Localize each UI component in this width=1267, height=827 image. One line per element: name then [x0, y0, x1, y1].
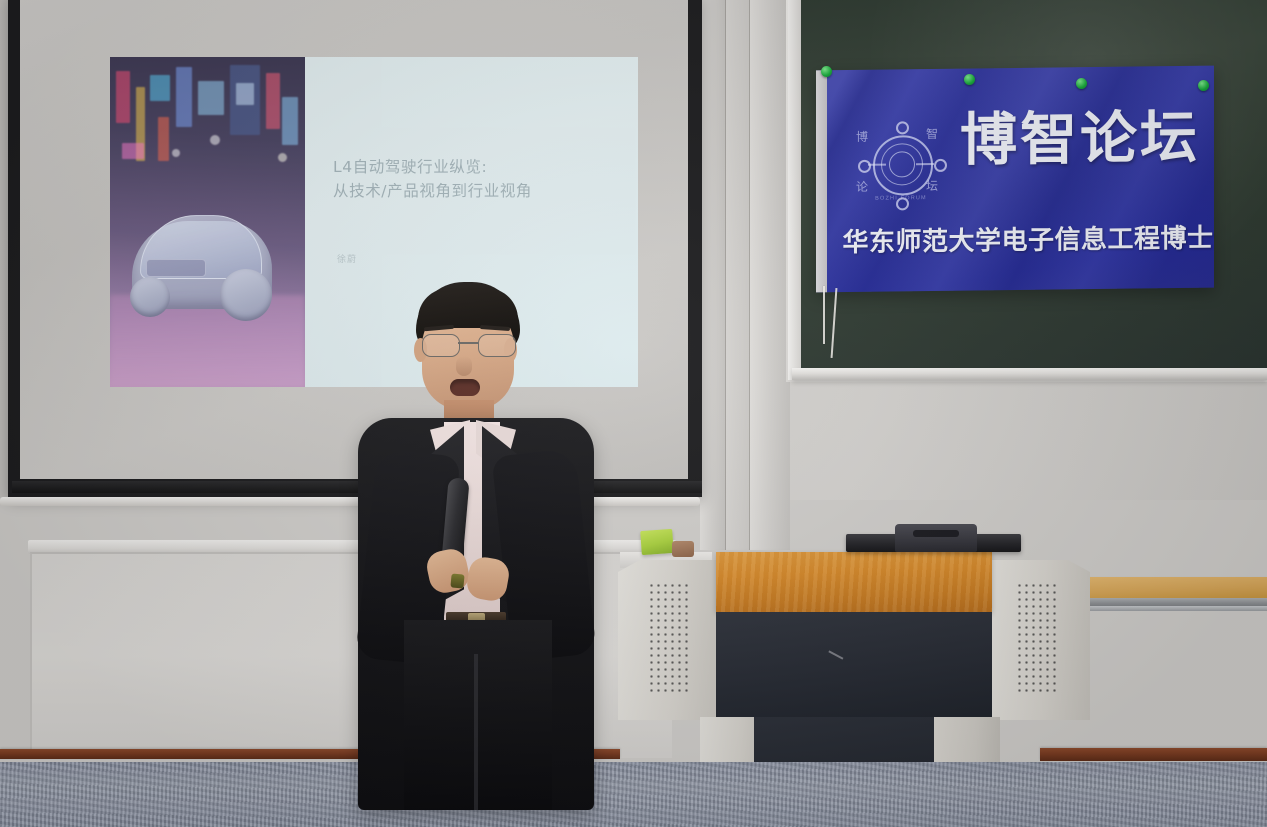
lecture-hall-photo: L4自动驾驶行业纵览: 从技术/产品视角到行业视角 徐蔚 博 智 论 坛 BOZ… — [0, 0, 1267, 827]
presenter-hair-front — [418, 288, 518, 328]
slide-pod-car — [128, 185, 284, 325]
logo-node-top — [896, 121, 909, 134]
presenter-leg-seam — [474, 654, 478, 810]
carpet-floor — [0, 762, 1267, 827]
slide-title: L4自动驾驶行业纵览: 从技术/产品视角到行业视角 — [333, 155, 633, 203]
side-desk-rail-lower — [1085, 606, 1267, 611]
slide-author: 徐蔚 — [337, 252, 357, 265]
logo-corner-char-2: 智 — [926, 125, 938, 142]
wall-divider-column-3 — [750, 0, 790, 550]
banner-magnet-1 — [821, 66, 832, 77]
eyeglasses-icon — [420, 334, 516, 356]
podium-speaker-grille-right — [1016, 582, 1060, 694]
eyeglasses-bridge — [458, 342, 478, 344]
logo-node-right — [934, 159, 947, 172]
banner-magnet-4 — [1198, 80, 1209, 91]
slide-title-line-1: L4自动驾驶行业纵览: — [333, 155, 633, 179]
banner-magnet-3 — [1076, 78, 1087, 89]
wall-divider-column-2 — [726, 0, 750, 550]
presenter-nose — [456, 356, 472, 376]
banner-tie-left — [823, 286, 825, 344]
forum-banner: 博 智 论 坛 BOZHI FORUM 博智论坛 华东师范大学电子信息工程博士 — [816, 66, 1214, 293]
baseboard-right — [1040, 748, 1267, 761]
banner-magnet-2 — [964, 74, 975, 85]
podium-monitor-handle-slot — [913, 530, 959, 537]
presenter-trousers — [404, 620, 552, 810]
chalkboard-ledge — [792, 368, 1267, 380]
banner-title: 博智论坛 — [960, 110, 1200, 170]
wall-seam-1 — [725, 0, 726, 550]
logo-spoke-left — [868, 164, 886, 166]
chalkboard-left-frame — [788, 0, 801, 380]
logo-corner-char-1: 博 — [856, 128, 868, 145]
eyeglasses-lens-right — [478, 334, 516, 357]
logo-corner-char-3: 论 — [856, 178, 868, 195]
banner-subtitle: 华东师范大学电子信息工程博士 — [842, 218, 1214, 260]
eyeglasses-lens-left — [422, 334, 460, 357]
wall-divider-column-1 — [700, 0, 726, 550]
slide-title-line-2: 从技术/产品视角到行业视角 — [333, 179, 633, 203]
side-desk-top — [1085, 577, 1267, 599]
podium-speaker-grille-left — [648, 582, 692, 694]
presenter — [352, 282, 600, 827]
podium-monitor-mount — [895, 524, 977, 552]
logo-spoke-right — [916, 163, 934, 165]
logo-node-left — [858, 160, 871, 173]
wall-seam-2 — [749, 0, 750, 550]
microphone-base — [450, 573, 464, 588]
banner-hem — [816, 70, 827, 292]
podium-wood-top — [716, 552, 992, 612]
forum-logo: 博 智 论 坛 BOZHI FORUM — [856, 121, 944, 210]
logo-caption: BOZHI FORUM — [862, 195, 940, 202]
presenter-mouth — [450, 379, 480, 396]
podium-front-panel — [716, 612, 992, 717]
slide-photo-autonomous-car — [110, 57, 305, 387]
